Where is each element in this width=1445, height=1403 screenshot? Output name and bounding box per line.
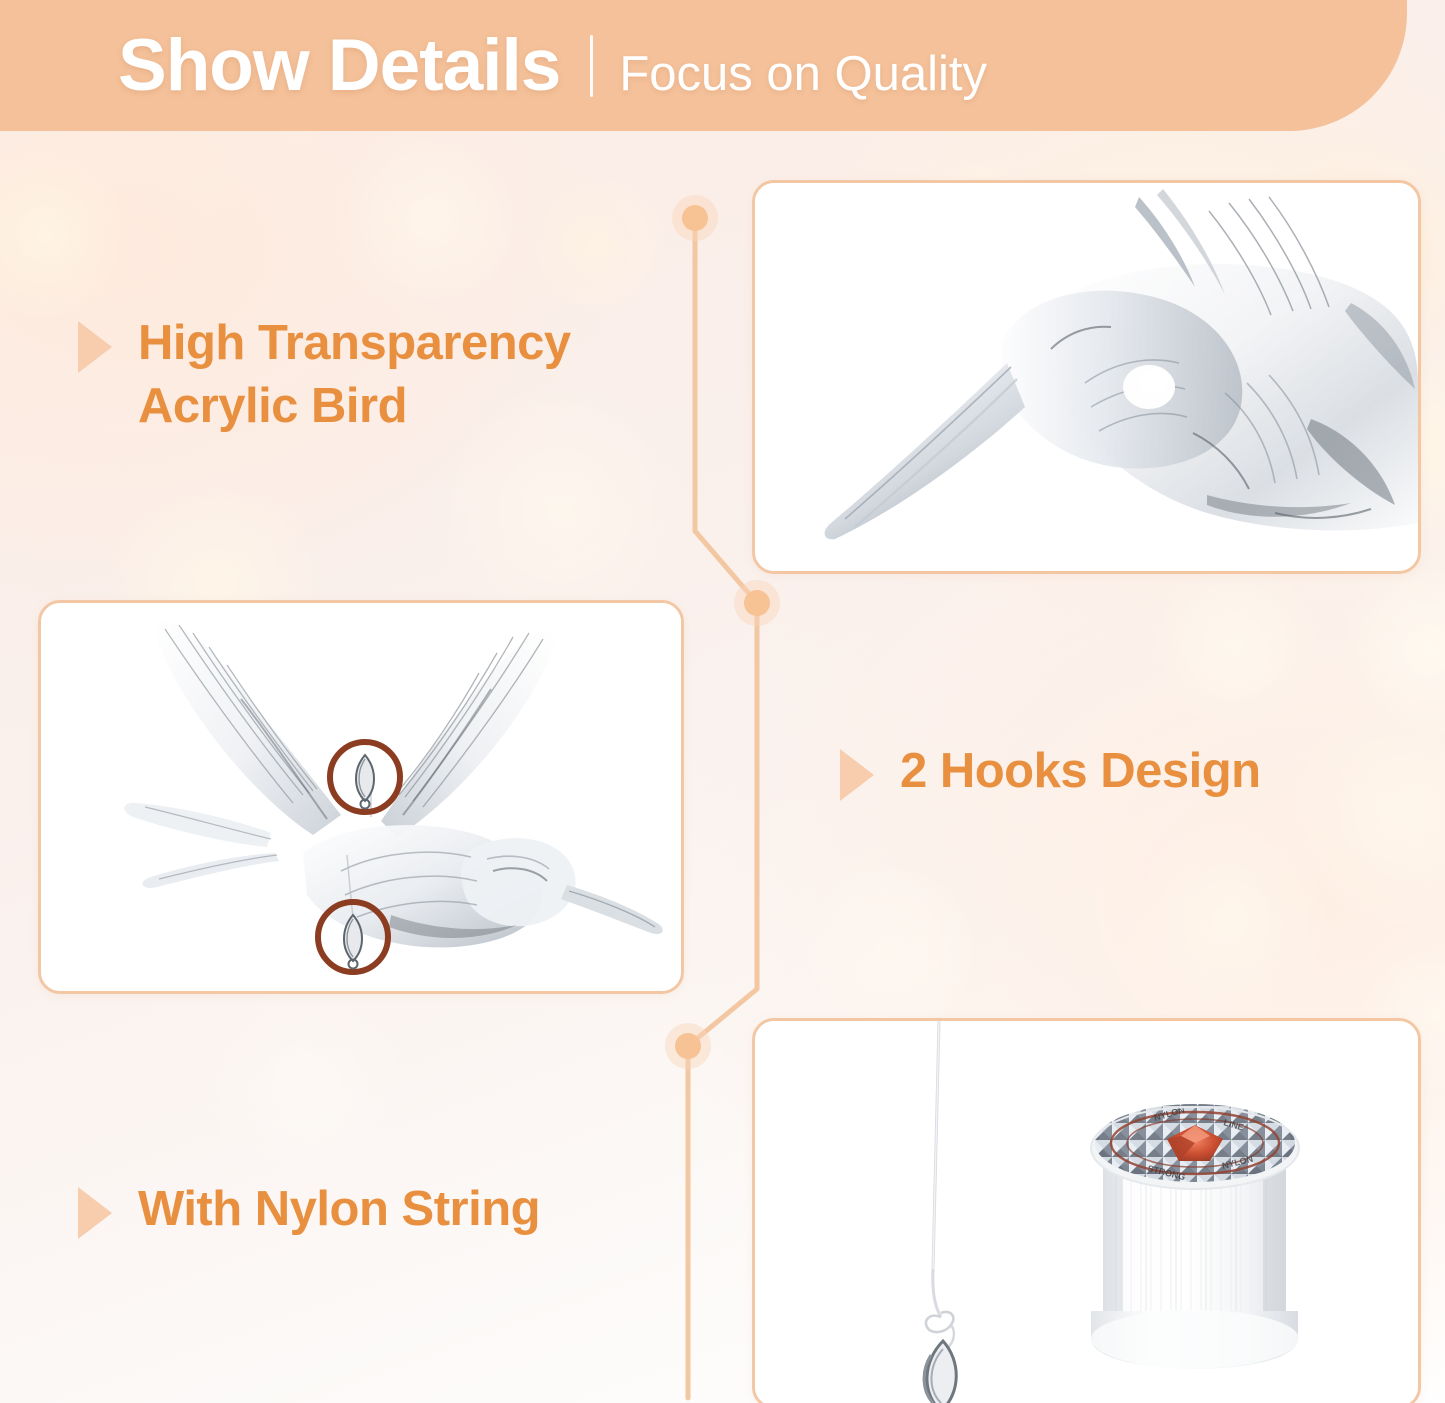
bokeh-light	[1150, 560, 1320, 730]
card-full-bird-hooks[interactable]	[38, 600, 684, 994]
header-banner: Show Details Focus on Quality	[0, 0, 1407, 131]
title-divider	[590, 35, 593, 97]
connector-dot-middle	[734, 580, 780, 626]
feature-nylon-string: With Nylon String	[78, 1178, 638, 1241]
bokeh-light	[520, 170, 670, 320]
bokeh-light	[800, 860, 980, 1040]
triangle-right-icon	[78, 321, 112, 373]
feature-label: With Nylon String	[138, 1178, 540, 1241]
feature-high-transparency: High Transparency Acrylic Bird	[78, 312, 678, 437]
triangle-right-icon	[78, 1187, 112, 1239]
page-title: Show Details	[118, 29, 560, 102]
hook-highlight-upper	[330, 742, 400, 812]
connector-dot-bottom	[665, 1023, 711, 1069]
connector-dot-top	[672, 195, 718, 241]
feature-two-hooks: 2 Hooks Design	[840, 740, 1360, 803]
page-subtitle: Focus on Quality	[619, 50, 987, 99]
feature-label: 2 Hooks Design	[900, 740, 1261, 803]
card-nylon-string-spool[interactable]: NYLON LINE STRONG NYLON	[752, 1018, 1421, 1403]
bokeh-light	[200, 980, 410, 1190]
bird-head-photo	[755, 183, 1418, 571]
card-bird-head-closeup[interactable]	[752, 180, 1421, 574]
bokeh-light	[1130, 820, 1330, 1020]
bokeh-light	[1340, 560, 1445, 740]
bokeh-light	[1290, 700, 1445, 930]
header-banner-content: Show Details Focus on Quality	[118, 29, 987, 102]
infographic-page: Show Details Focus on Quality High Trans…	[0, 0, 1445, 1403]
feature-label-line2: Acrylic Bird	[138, 375, 571, 438]
full-bird-photo	[41, 603, 681, 991]
feature-label: High Transparency Acrylic Bird	[138, 312, 571, 437]
feature-label-line1: High Transparency	[138, 312, 571, 375]
bokeh-light	[330, 120, 530, 320]
triangle-right-icon	[840, 749, 874, 801]
connector-path	[688, 218, 757, 1398]
nylon-string-photo: NYLON LINE STRONG NYLON	[755, 1021, 1418, 1403]
bokeh-light	[0, 150, 130, 320]
